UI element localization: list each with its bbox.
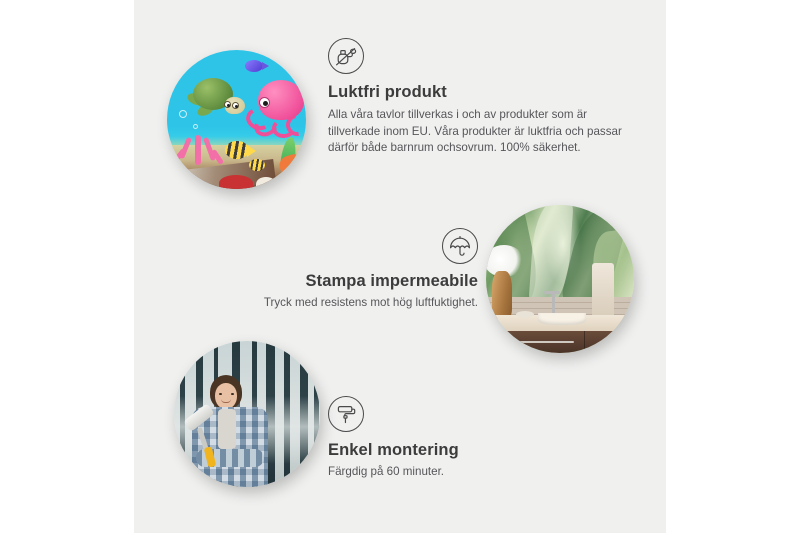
vase [492, 271, 512, 319]
product-image-botanical-bathroom [486, 205, 634, 353]
vanity-cabinet [492, 331, 634, 353]
feature-waterproof-print: Stampa impermeabile Tryck med resistens … [190, 228, 478, 312]
faucet [552, 291, 555, 315]
towel [592, 263, 614, 317]
fish-illustration [225, 141, 249, 159]
turtle-illustration [187, 78, 239, 116]
feature-title: Stampa impermeabile [190, 272, 478, 291]
coral-illustration [177, 127, 223, 165]
fish-illustration [245, 60, 263, 72]
content-panel: Luktfri produkt Alla våra tavlor tillver… [134, 0, 666, 533]
feature-description: Färgdig på 60 minuter. [328, 464, 608, 481]
feature-description: Tryck med resistens mot hög luftfuktighe… [190, 295, 478, 312]
painter-person [188, 375, 272, 487]
feature-title: Luktfri produkt [328, 83, 630, 102]
product-image-sea-life [167, 50, 306, 189]
soap-dish [516, 311, 534, 318]
feature-odour-free: Luktfri produkt Alla våra tavlor tillver… [328, 38, 630, 157]
fish-illustration [249, 159, 265, 171]
feature-title: Enkel montering [328, 441, 608, 460]
feature-description: Alla våra tavlor tillverkas i och av pro… [328, 107, 630, 157]
umbrella-icon [442, 228, 478, 264]
bubble-icon [179, 110, 187, 118]
crab-illustration [219, 175, 253, 189]
feature-easy-mounting: Enkel montering Färgdig på 60 minuter. [328, 396, 608, 481]
octopus-illustration [250, 80, 306, 138]
paint-roller-icon [328, 396, 364, 432]
product-feature-banner: Luktfri produkt Alla våra tavlor tillver… [0, 0, 800, 533]
product-image-painter-forest [174, 341, 320, 487]
sink-basin [538, 313, 586, 325]
no-perfume-icon [328, 38, 364, 74]
shell-illustration [256, 177, 276, 189]
